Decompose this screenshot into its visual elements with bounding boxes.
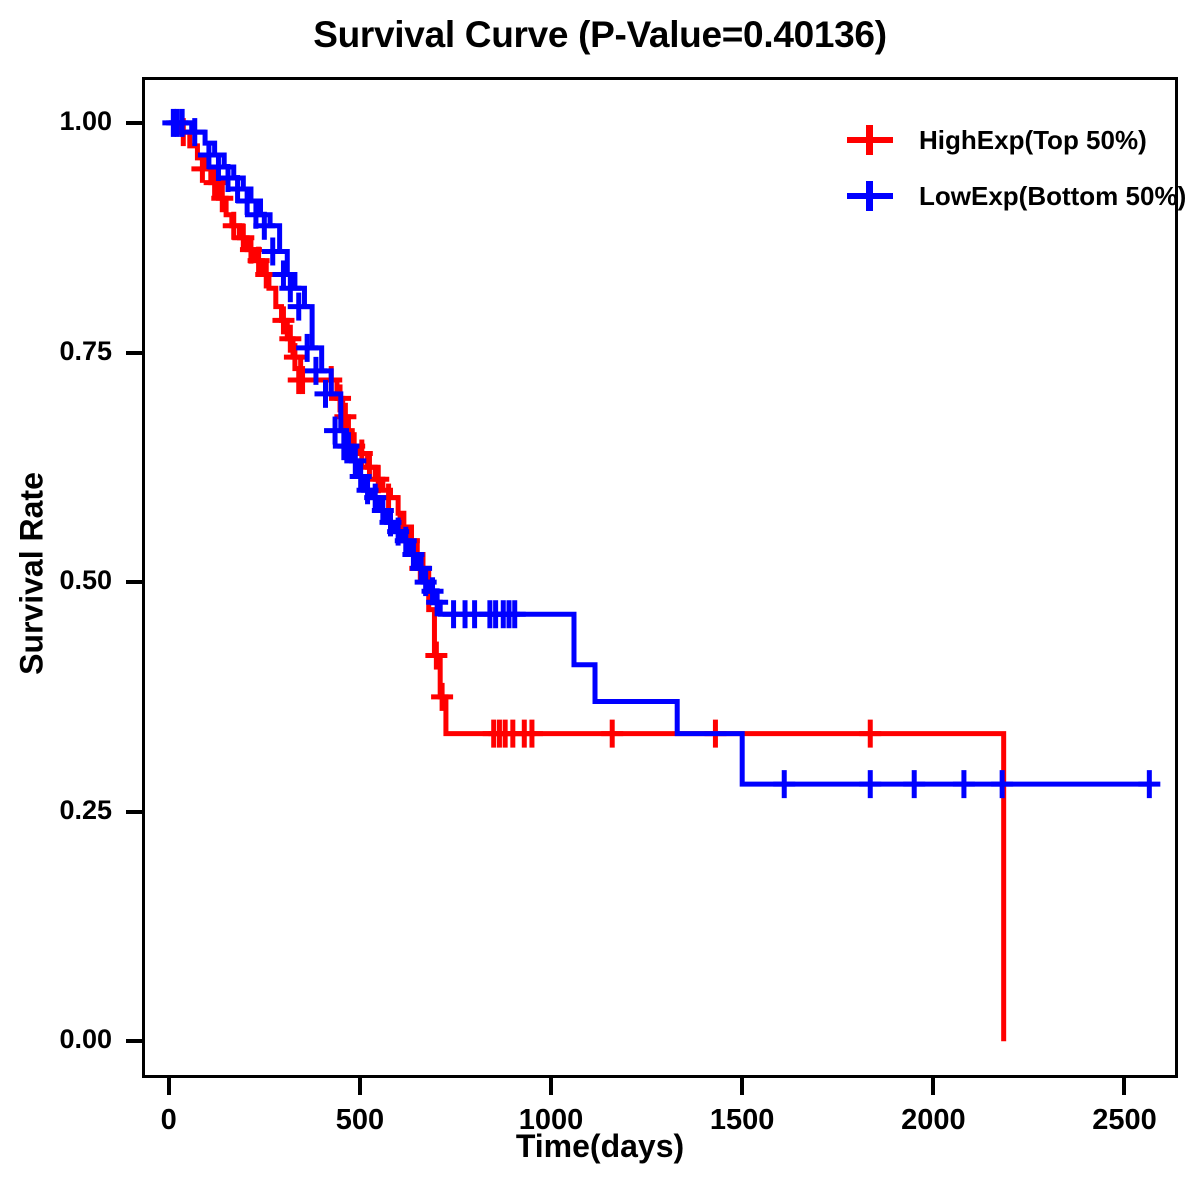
y-tick-mark: [126, 810, 142, 814]
page-title: Survival Curve (P-Value=0.40136): [0, 14, 1200, 56]
x-tick-mark: [549, 1078, 553, 1095]
series-high-exp: [169, 118, 1004, 1041]
y-tick-label: 0.00: [2, 1024, 112, 1055]
y-tick-label: 0.25: [2, 795, 112, 826]
y-tick-mark: [126, 1039, 142, 1043]
legend-label-high-exp: HighExp(Top 50%): [897, 125, 1147, 156]
curve-canvas: [142, 77, 1178, 1078]
legend-label-low-exp: LowExp(Bottom 50%): [897, 181, 1186, 212]
censor-marks: [172, 118, 881, 748]
y-tick-mark: [126, 580, 142, 584]
legend-entry-high-exp[interactable]: HighExp(Top 50%): [845, 112, 1175, 168]
plus-marker-icon: [845, 123, 897, 157]
plus-marker-icon: [845, 179, 897, 213]
legend: HighExp(Top 50%) LowExp(Bottom 50%): [845, 112, 1175, 224]
y-tick-mark: [126, 351, 142, 355]
y-tick-label: 1.00: [2, 106, 112, 137]
x-tick-mark: [358, 1078, 362, 1095]
legend-entry-low-exp[interactable]: LowExp(Bottom 50%): [845, 168, 1175, 224]
y-axis-label: Survival Rate: [14, 424, 51, 724]
x-tick-mark: [1122, 1078, 1126, 1095]
y-tick-mark: [126, 121, 142, 125]
step-line: [169, 123, 1004, 1041]
y-tick-label: 0.75: [2, 336, 112, 367]
survival-curve-figure: Survival Curve (P-Value=0.40136) 0.000.2…: [0, 0, 1200, 1200]
x-tick-mark: [167, 1078, 171, 1095]
x-tick-mark: [740, 1078, 744, 1095]
x-tick-mark: [931, 1078, 935, 1095]
x-axis-label: Time(days): [0, 1128, 1200, 1165]
